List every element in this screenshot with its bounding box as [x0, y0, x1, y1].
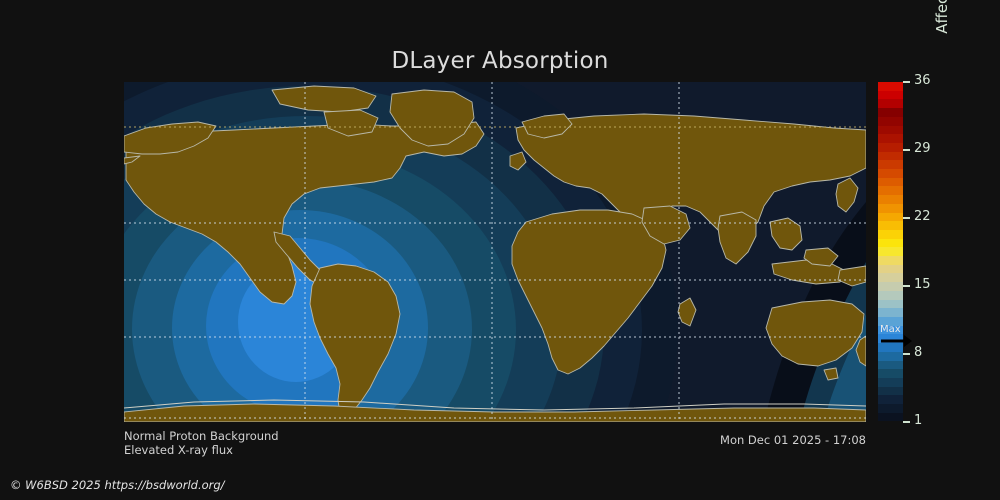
tick-dash — [903, 149, 910, 151]
colorbar-band — [878, 186, 903, 195]
tick-dash — [903, 421, 910, 423]
colorbar-band — [878, 300, 903, 309]
colorbar-band — [878, 265, 903, 274]
colorbar-band — [878, 256, 903, 265]
colorbar-ticks: 1815222936 — [903, 82, 943, 422]
colorbar-band — [878, 134, 903, 143]
tick-dash — [903, 81, 910, 83]
max-absorption-marker: Max — [880, 324, 920, 350]
max-arrow-icon — [880, 334, 912, 348]
copyright-notice: © W6BSD 2025 https://bsdworld.org/ — [10, 478, 225, 492]
world-absorption-map[interactable] — [124, 82, 866, 422]
colorbar-band — [878, 308, 903, 317]
colorbar-band — [878, 369, 903, 378]
colorbar-band — [878, 282, 903, 291]
tick-dash — [903, 353, 910, 355]
colorbar-band — [878, 143, 903, 152]
colorbar-band — [878, 195, 903, 204]
timestamp: Mon Dec 01 2025 - 17:08 — [566, 433, 866, 447]
tick-label: 36 — [914, 73, 931, 88]
colorbar-band — [878, 413, 903, 422]
tick-dash — [903, 285, 910, 287]
colorbar-band — [878, 82, 903, 91]
colorbar-band — [878, 395, 903, 404]
colorbar-band — [878, 378, 903, 387]
colorbar-axis-label: Affected Frequency (MHz) — [930, 0, 955, 107]
colorbar-band — [878, 239, 903, 248]
tick-label: 1 — [914, 413, 922, 428]
colorbar-band — [878, 361, 903, 370]
colorbar-band — [878, 178, 903, 187]
tick-label: 15 — [914, 277, 931, 292]
proton-status-text: Normal Proton Background — [124, 429, 279, 443]
colorbar-band — [878, 152, 903, 161]
colorbar-band — [878, 247, 903, 256]
colorbar-band — [878, 352, 903, 361]
tick-dash — [903, 217, 910, 219]
page-title: DLayer Absorption — [0, 48, 1000, 74]
tick-label: 29 — [914, 141, 931, 156]
colorbar-band — [878, 213, 903, 222]
colorbar-band — [878, 404, 903, 413]
colorbar-band — [878, 204, 903, 213]
xray-status-text: Elevated X-ray flux — [124, 443, 279, 457]
colorbar-band — [878, 291, 903, 300]
colorbar-band — [878, 230, 903, 239]
map-svg — [124, 82, 866, 422]
colorbar-band — [878, 160, 903, 169]
colorbar-band — [878, 387, 903, 396]
colorbar-band — [878, 126, 903, 135]
status-notes: Normal Proton Background Elevated X-ray … — [124, 429, 279, 457]
colorbar-band — [878, 108, 903, 117]
tick-label: 22 — [914, 209, 931, 224]
colorbar-band — [878, 117, 903, 126]
colorbar[interactable] — [878, 82, 903, 422]
dlayer-absorption-app: DLayer Absorption — [0, 0, 1000, 500]
colorbar-band — [878, 169, 903, 178]
colorbar-band — [878, 91, 903, 100]
colorbar-band — [878, 273, 903, 282]
colorbar-band — [878, 99, 903, 108]
colorbar-band — [878, 221, 903, 230]
